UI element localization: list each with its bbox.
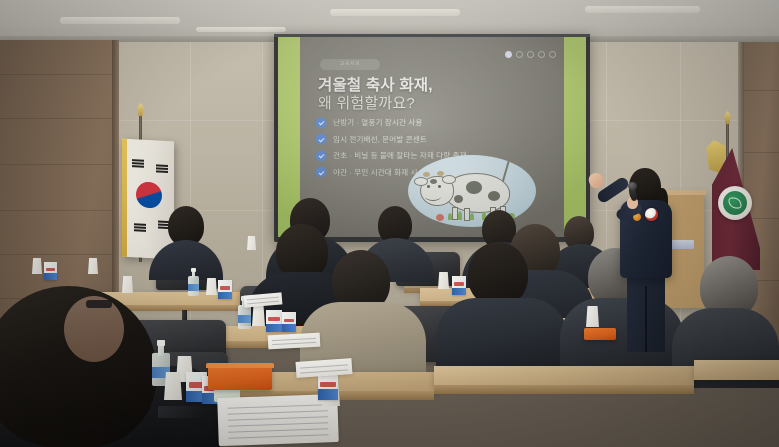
slide-bullet-item: 건초 · 비닐 등 불에 잘타는 자재 다량 존재: [316, 150, 546, 161]
slide-bullet-item: 임시 전기배선, 문어발 콘센트: [316, 134, 546, 145]
cow-spot: [488, 191, 500, 201]
paper-cup: [247, 236, 256, 250]
check-circle-icon: [316, 118, 326, 128]
paper-cup: [164, 372, 182, 400]
presenter-leg-seam: [645, 286, 647, 352]
cow-spot: [466, 181, 482, 194]
eyeglasses-icon: [86, 300, 112, 308]
cow-horn: [437, 171, 444, 176]
milk-carton: [44, 262, 57, 280]
orange-box-lid: [206, 363, 274, 368]
flag-hoist-band: [122, 139, 127, 257]
ceiling-light-fixture: [585, 6, 700, 13]
ceiling-light-fixture: [60, 17, 180, 24]
milk-carton: [218, 280, 232, 299]
milk-carton: [282, 312, 296, 332]
podium-top-surface: [662, 190, 706, 195]
water-bottle: [188, 268, 199, 296]
vegetable-icon: [436, 214, 444, 221]
slide-bullet-item: 난방기 · 열풍기 장시간 사용: [316, 117, 546, 128]
emblem-inner-icon: [723, 191, 747, 215]
printed-handout: [217, 394, 339, 446]
slide-badge: 교육자료: [320, 59, 380, 70]
trigram: [132, 159, 144, 169]
milk-carton: [452, 276, 466, 295]
slide-title-line2: 왜 위험할까요?: [318, 92, 415, 113]
cow-ear: [414, 177, 428, 186]
microphone-head-icon: [628, 182, 637, 190]
lecture-room-photo: 교육자료 겨울철 축사 화재, 왜 위험할까요? 난방기 · 열풍기 장시간 사…: [0, 0, 779, 447]
slide-accent-band-right: [564, 37, 586, 237]
printed-handout: [268, 333, 321, 350]
paper-cup: [252, 306, 265, 326]
ceiling-light-fixture: [330, 9, 460, 16]
trigram: [156, 164, 168, 174]
trigram: [134, 223, 146, 233]
grass-tuft: [448, 213, 452, 220]
orange-box: [208, 366, 272, 390]
uniform-badge-icon: [645, 208, 658, 221]
slide-bullet-text: 임시 전기배선, 문어발 콘센트: [333, 134, 427, 145]
milk-carton: [266, 310, 282, 332]
table: [434, 366, 694, 386]
cow-eye: [438, 185, 441, 188]
taeguk-symbol: [136, 181, 162, 208]
cow-eye: [427, 185, 430, 188]
grass-tuft: [458, 211, 462, 220]
paper-cup: [586, 306, 599, 327]
table-edge: [434, 385, 694, 394]
audience-shoulders: [436, 298, 568, 374]
paper-cup: [32, 258, 42, 274]
page-dot: [549, 51, 556, 58]
check-circle-icon: [316, 167, 326, 177]
cow-illustration: [408, 155, 536, 227]
slide-bullet-text: 난방기 · 열풍기 장시간 사용: [333, 117, 422, 128]
check-circle-icon: [316, 151, 326, 161]
audience-head: [468, 242, 528, 306]
slide-page-indicator: [505, 51, 556, 58]
south-korea-flag: [122, 139, 174, 260]
table: [694, 360, 779, 380]
cow-spot: [430, 179, 437, 184]
page-dot: [516, 51, 523, 58]
podium-sign: [672, 240, 694, 249]
smartphone: [158, 406, 204, 418]
ceiling-light-fixture: [196, 27, 286, 32]
cow-mouth: [425, 192, 441, 201]
paper-cup: [88, 258, 98, 274]
check-circle-icon: [316, 134, 326, 144]
paper-cup: [206, 278, 217, 295]
page-dot: [538, 51, 545, 58]
paper-cup: [122, 276, 133, 293]
page-dot: [527, 51, 534, 58]
orange-box: [584, 328, 616, 340]
slide-badge-label: 교육자료: [320, 59, 380, 70]
cow-spot: [454, 195, 463, 203]
cow-horn: [423, 172, 430, 177]
grass-tuft: [470, 213, 474, 220]
organization-emblem: [718, 186, 752, 220]
audience-shoulders: [560, 298, 684, 374]
page-dot-active: [505, 51, 512, 58]
paper-cup: [438, 272, 449, 289]
cow-ear: [442, 175, 456, 184]
